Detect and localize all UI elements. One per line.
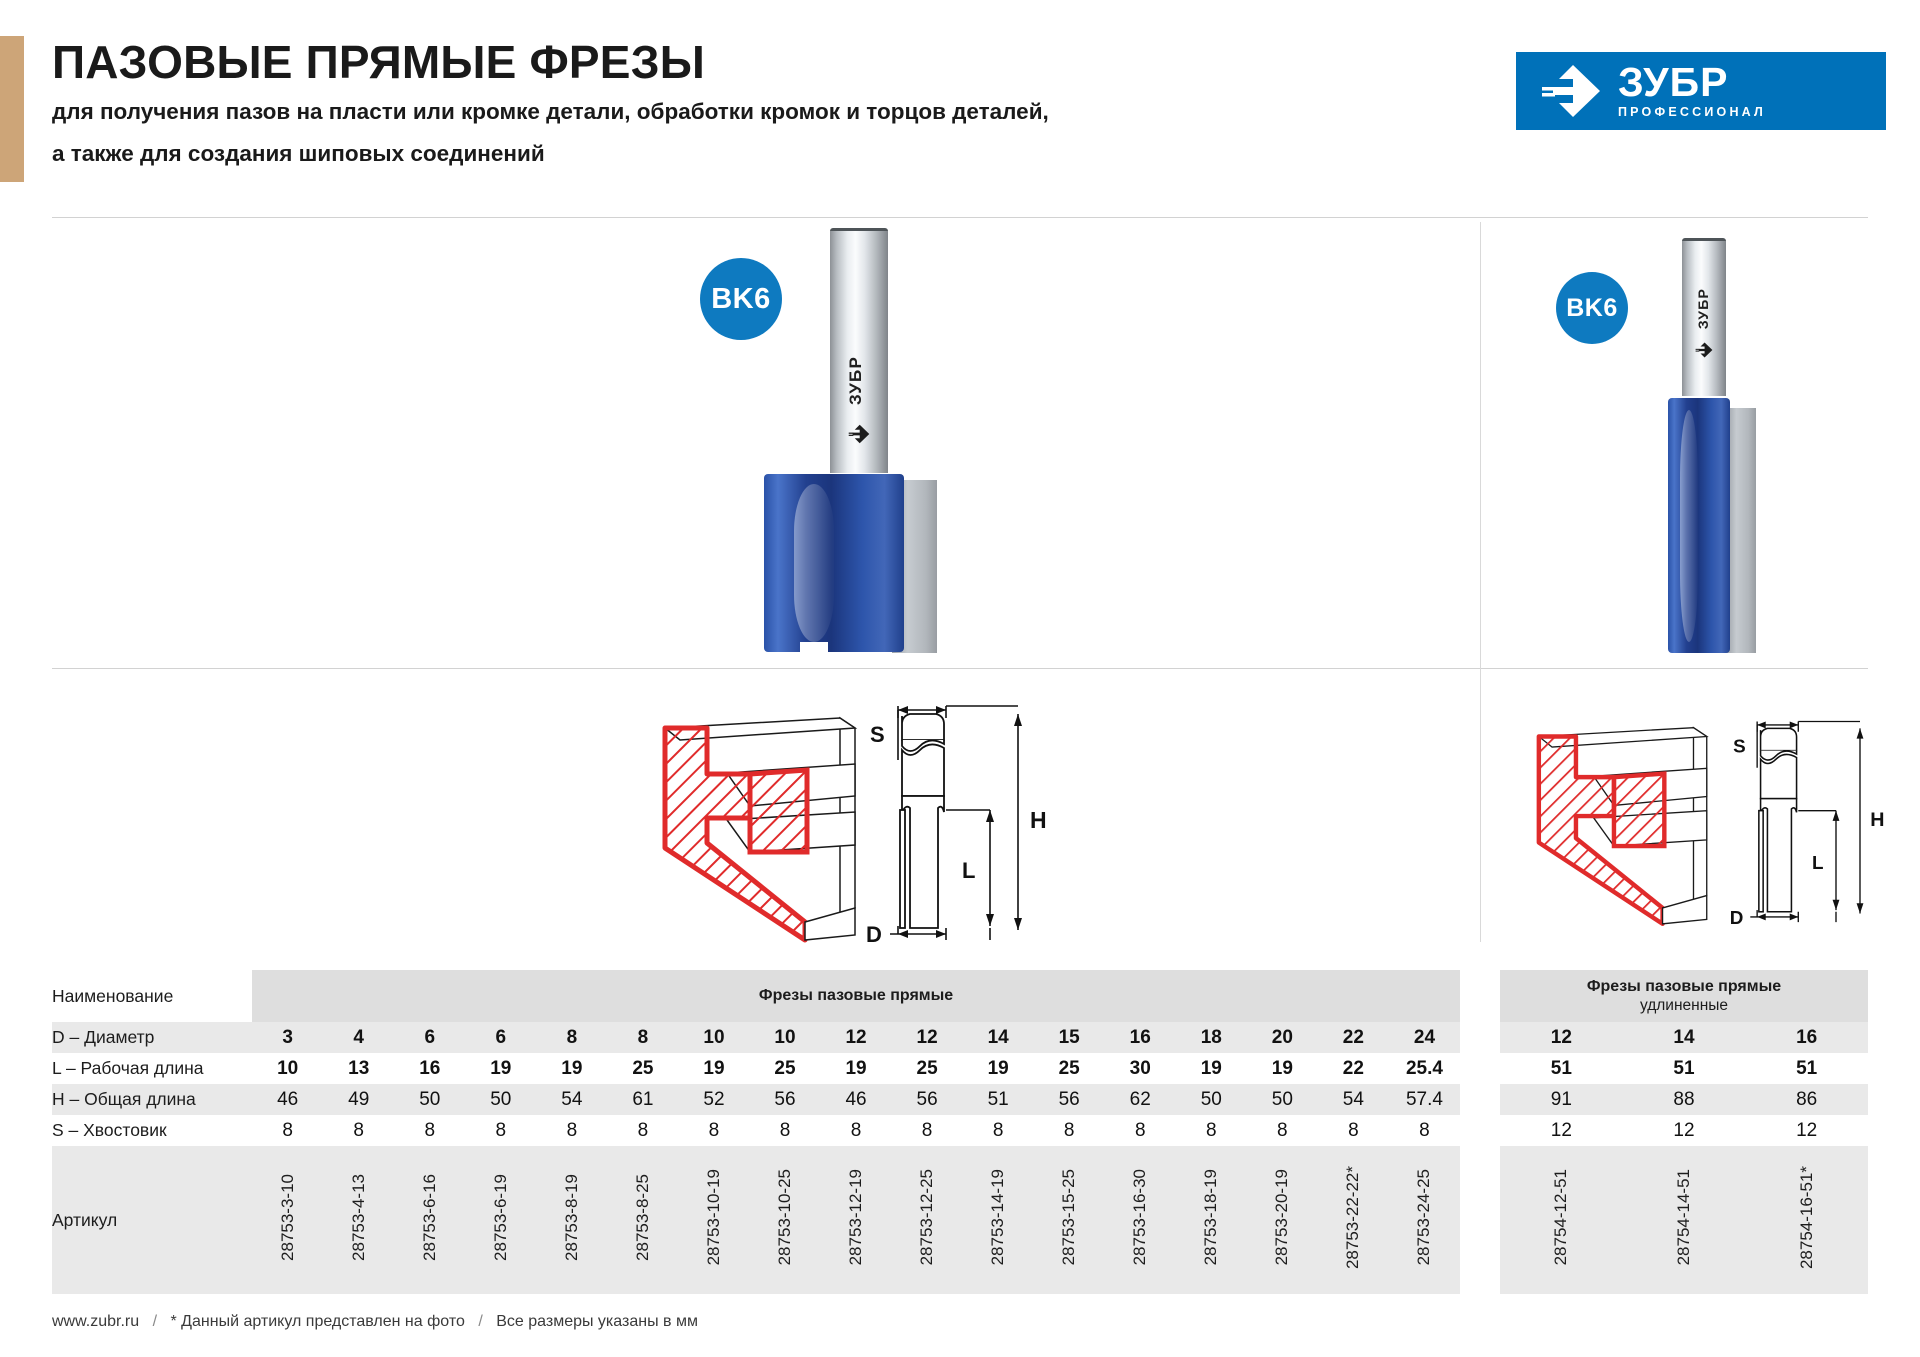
article-cell: 28753-10-25 bbox=[749, 1146, 820, 1294]
table-cell: 3 bbox=[252, 1022, 323, 1053]
main-data-body: D – Диаметр3466881010121214151618202224L… bbox=[52, 1022, 1460, 1294]
table-cell: 56 bbox=[892, 1084, 963, 1115]
table-cell: 30 bbox=[1105, 1053, 1176, 1084]
ext-table-row: 918886 bbox=[1500, 1084, 1868, 1115]
divider-middle bbox=[52, 668, 1868, 669]
table-cell: 4 bbox=[323, 1022, 394, 1053]
main-spec-table: Наименование Фрезы пазовые прямые bbox=[52, 970, 1460, 1022]
page-subtitle-line2: а также для создания шиповых соединений bbox=[52, 138, 1472, 170]
ext-table-cell: 51 bbox=[1745, 1053, 1868, 1084]
ext-table-cell: 12 bbox=[1745, 1115, 1868, 1146]
page-subtitle-line1: для получения пазов на пласти или кромке… bbox=[52, 96, 1472, 128]
footer: www.zubr.ru / * Данный артикул представл… bbox=[52, 1313, 698, 1331]
ext-table-cell: 12 bbox=[1500, 1022, 1623, 1053]
body-gloss-left bbox=[794, 484, 834, 642]
article-text: 28753-3-10 bbox=[278, 1174, 298, 1261]
table-cell: 8 bbox=[1318, 1115, 1389, 1146]
table-cell: 46 bbox=[252, 1084, 323, 1115]
ext-article-cell: 28754-14-51 bbox=[1623, 1146, 1746, 1294]
table-cell: 10 bbox=[749, 1022, 820, 1053]
row-label: S – Хвостовик bbox=[52, 1115, 252, 1146]
datasheet-page: ПАЗОВЫЕ ПРЯМЫЕ ФРЕЗЫ для получения пазов… bbox=[0, 0, 1920, 1357]
dim-label-l-right: L bbox=[1812, 852, 1824, 873]
table-cell: 8 bbox=[1389, 1115, 1460, 1146]
table-cell: 8 bbox=[892, 1115, 963, 1146]
ext-group-header-sub: удлиненные bbox=[1500, 997, 1868, 1015]
ext-article-text: 28754-16-51* bbox=[1797, 1166, 1817, 1269]
product-photo-right: ЗУБР bbox=[1640, 238, 1810, 653]
table-cell: 19 bbox=[1247, 1053, 1318, 1084]
table-cell: 49 bbox=[323, 1084, 394, 1115]
table-cell: 13 bbox=[323, 1053, 394, 1084]
dim-label-s: S bbox=[870, 722, 885, 747]
shank-logo-mark-right bbox=[1695, 341, 1713, 359]
table-cell: 25.4 bbox=[1389, 1053, 1460, 1084]
article-text: 28753-10-19 bbox=[704, 1169, 724, 1265]
ext-table-cell: 88 bbox=[1623, 1084, 1746, 1115]
article-text: 28753-8-25 bbox=[633, 1174, 653, 1261]
ext-table-row: 515151 bbox=[1500, 1053, 1868, 1084]
table-cell: 12 bbox=[821, 1022, 892, 1053]
article-cell: 28753-6-19 bbox=[465, 1146, 536, 1294]
table-cell: 22 bbox=[1318, 1022, 1389, 1053]
table-cell: 46 bbox=[821, 1084, 892, 1115]
ext-table-cell: 91 bbox=[1500, 1084, 1623, 1115]
article-cell: 28753-3-10 bbox=[252, 1146, 323, 1294]
dim-label-l: L bbox=[962, 858, 975, 883]
table-cell: 8 bbox=[1034, 1115, 1105, 1146]
table-cell: 8 bbox=[536, 1115, 607, 1146]
ext-table-cell: 51 bbox=[1500, 1053, 1623, 1084]
table-cell: 19 bbox=[963, 1053, 1034, 1084]
article-text: 28753-18-19 bbox=[1201, 1169, 1221, 1265]
table-cell: 19 bbox=[678, 1053, 749, 1084]
table-row: S – Хвостовик88888888888888888 bbox=[52, 1115, 1460, 1146]
article-cell: 28753-12-19 bbox=[821, 1146, 892, 1294]
article-cell: 28753-12-25 bbox=[892, 1146, 963, 1294]
ext-article-cell: 28754-12-51 bbox=[1500, 1146, 1623, 1294]
ext-spec-table: Фрезы пазовые прямые удлиненные bbox=[1500, 970, 1868, 1022]
article-cell: 28753-15-25 bbox=[1034, 1146, 1105, 1294]
article-cell: 28753-22-22* bbox=[1318, 1146, 1389, 1294]
dim-label-d-right: D bbox=[1730, 907, 1744, 928]
table-cell: 16 bbox=[394, 1053, 465, 1084]
ext-table-cell: 51 bbox=[1623, 1053, 1746, 1084]
ext-article-text: 28754-12-51 bbox=[1551, 1169, 1571, 1265]
article-text: 28753-14-19 bbox=[988, 1169, 1008, 1265]
article-text: 28753-10-25 bbox=[775, 1169, 795, 1265]
table-cell: 8 bbox=[821, 1115, 892, 1146]
article-cell: 28753-16-30 bbox=[1105, 1146, 1176, 1294]
table-cell: 19 bbox=[536, 1053, 607, 1084]
table-cell: 8 bbox=[607, 1022, 678, 1053]
main-table-body: Наименование Фрезы пазовые прямые bbox=[52, 970, 1460, 1022]
main-table-header-row: Наименование Фрезы пазовые прямые bbox=[52, 970, 1460, 1022]
table-cell: 50 bbox=[465, 1084, 536, 1115]
table-cell: 8 bbox=[394, 1115, 465, 1146]
table-cell: 54 bbox=[1318, 1084, 1389, 1115]
article-text: 28753-24-25 bbox=[1414, 1169, 1434, 1265]
article-cell: 28753-8-25 bbox=[607, 1146, 678, 1294]
table-cell: 50 bbox=[1176, 1084, 1247, 1115]
ext-article-text: 28754-14-51 bbox=[1674, 1169, 1694, 1265]
shank-brand-right: ЗУБР bbox=[1695, 288, 1711, 329]
table-cell: 6 bbox=[465, 1022, 536, 1053]
article-cell: 28753-24-25 bbox=[1389, 1146, 1460, 1294]
footer-note-units: Все размеры указаны в мм bbox=[496, 1313, 698, 1330]
logo-tagline-text: ПРОФЕССИОНАЛ bbox=[1618, 105, 1766, 119]
article-row-label: Артикул bbox=[52, 1146, 252, 1294]
article-cell: 28753-20-19 bbox=[1247, 1146, 1318, 1294]
groove-diagram-left bbox=[655, 700, 870, 945]
ext-table-cell: 14 bbox=[1623, 1022, 1746, 1053]
table-cell: 8 bbox=[465, 1115, 536, 1146]
accent-bar bbox=[0, 36, 24, 182]
article-cell: 28753-4-13 bbox=[323, 1146, 394, 1294]
table-row: H – Общая длина4649505054615256465651566… bbox=[52, 1084, 1460, 1115]
article-text: 28753-16-30 bbox=[1130, 1169, 1150, 1265]
groove-diagram-right bbox=[1530, 700, 1720, 940]
product-photo-left: ЗУБР bbox=[750, 228, 980, 653]
article-cell: 28753-14-19 bbox=[963, 1146, 1034, 1294]
dimension-drawing-left: S H L D bbox=[850, 688, 1060, 948]
page-title: ПАЗОВЫЕ ПРЯМЫЕ ФРЕЗЫ bbox=[52, 38, 1472, 86]
article-text: 28753-4-13 bbox=[349, 1174, 369, 1261]
ext-group-header-main: Фрезы пазовые прямые bbox=[1587, 978, 1781, 995]
footer-note-photo: * Данный артикул представлен на фото bbox=[171, 1313, 465, 1330]
badge-bk6-right-label: BK6 bbox=[1566, 294, 1618, 323]
shank-brand-left: ЗУБР bbox=[846, 356, 866, 405]
main-spec-data-table: D – Диаметр3466881010121214151618202224L… bbox=[52, 1022, 1460, 1294]
shank-logo-mark-left bbox=[848, 423, 870, 445]
body-gloss-right bbox=[1680, 410, 1698, 642]
table-cell: 54 bbox=[536, 1084, 607, 1115]
table-cell: 14 bbox=[963, 1022, 1034, 1053]
divider-vertical bbox=[1480, 222, 1481, 942]
divider-top bbox=[52, 217, 1868, 218]
body-notch-left bbox=[800, 642, 828, 653]
article-cell: 28753-18-19 bbox=[1176, 1146, 1247, 1294]
dim-label-h-right: H bbox=[1870, 809, 1884, 831]
footer-website[interactable]: www.zubr.ru bbox=[52, 1313, 139, 1330]
table-cell: 10 bbox=[678, 1022, 749, 1053]
table-cell: 8 bbox=[1105, 1115, 1176, 1146]
table-cell: 57.4 bbox=[1389, 1084, 1460, 1115]
ext-table-cell: 86 bbox=[1745, 1084, 1868, 1115]
table-cell: 8 bbox=[1247, 1115, 1318, 1146]
row-label: D – Диаметр bbox=[52, 1022, 252, 1053]
table-cell: 50 bbox=[1247, 1084, 1318, 1115]
ext-table-header-row: Фрезы пазовые прямые удлиненные bbox=[1500, 970, 1868, 1022]
table-cell: 62 bbox=[1105, 1084, 1176, 1115]
row-label: H – Общая длина bbox=[52, 1084, 252, 1115]
brand-logo: ЗУБР ПРОФЕССИОНАЛ bbox=[1516, 52, 1886, 130]
ext-data-body: 12141651515191888612121228754-12-5128754… bbox=[1500, 1022, 1868, 1294]
table-cell: 8 bbox=[963, 1115, 1034, 1146]
table-cell: 50 bbox=[394, 1084, 465, 1115]
article-text: 28753-6-19 bbox=[491, 1174, 511, 1261]
ext-table-cell: 12 bbox=[1623, 1115, 1746, 1146]
main-group-header: Фрезы пазовые прямые bbox=[252, 970, 1460, 1022]
article-cell: 28753-10-19 bbox=[678, 1146, 749, 1294]
table-cell: 19 bbox=[821, 1053, 892, 1084]
article-row: Артикул28753-3-1028753-4-1328753-6-16287… bbox=[52, 1146, 1460, 1294]
table-cell: 56 bbox=[749, 1084, 820, 1115]
logo-brand-text: ЗУБР bbox=[1618, 63, 1728, 102]
table-cell: 8 bbox=[749, 1115, 820, 1146]
ext-spec-data-table: 12141651515191888612121228754-12-5128754… bbox=[1500, 1022, 1868, 1294]
table-cell: 61 bbox=[607, 1084, 678, 1115]
table-cell: 12 bbox=[892, 1022, 963, 1053]
table-cell: 19 bbox=[465, 1053, 536, 1084]
table-cell: 6 bbox=[394, 1022, 465, 1053]
logo-wordmark: ЗУБР ПРОФЕССИОНАЛ bbox=[1618, 63, 1766, 119]
table-cell: 8 bbox=[536, 1022, 607, 1053]
ext-table-row: 121212 bbox=[1500, 1115, 1868, 1146]
ext-table-cell: 16 bbox=[1745, 1022, 1868, 1053]
ext-article-row: 28754-12-5128754-14-5128754-16-51* bbox=[1500, 1146, 1868, 1294]
dim-label-h: H bbox=[1030, 807, 1047, 833]
ext-table-row: 121416 bbox=[1500, 1022, 1868, 1053]
table-cell: 20 bbox=[1247, 1022, 1318, 1053]
article-text: 28753-12-25 bbox=[917, 1169, 937, 1265]
dim-label-d: D bbox=[866, 922, 882, 947]
ext-table-cell: 12 bbox=[1500, 1115, 1623, 1146]
table-cell: 25 bbox=[749, 1053, 820, 1084]
table-cell: 51 bbox=[963, 1084, 1034, 1115]
table-cell: 22 bbox=[1318, 1053, 1389, 1084]
table-cell: 16 bbox=[1105, 1022, 1176, 1053]
article-text: 28753-8-19 bbox=[562, 1174, 582, 1261]
carbide-edge-right bbox=[1726, 408, 1756, 653]
article-text: 28753-20-19 bbox=[1272, 1169, 1292, 1265]
table-cell: 8 bbox=[323, 1115, 394, 1146]
table-cell: 15 bbox=[1034, 1022, 1105, 1053]
table-cell: 52 bbox=[678, 1084, 749, 1115]
table-cell: 8 bbox=[252, 1115, 323, 1146]
table-cell: 10 bbox=[252, 1053, 323, 1084]
ext-group-header: Фрезы пазовые прямые удлиненные bbox=[1500, 970, 1868, 1022]
article-text: 28753-22-22* bbox=[1343, 1166, 1363, 1269]
table-cell: 19 bbox=[1176, 1053, 1247, 1084]
table-cell: 25 bbox=[892, 1053, 963, 1084]
table-cell: 24 bbox=[1389, 1022, 1460, 1053]
table-cell: 25 bbox=[607, 1053, 678, 1084]
table-cell: 8 bbox=[607, 1115, 678, 1146]
table-cell: 8 bbox=[678, 1115, 749, 1146]
dim-label-s-right: S bbox=[1733, 735, 1746, 756]
table-row: L – Рабочая длина10131619192519251925192… bbox=[52, 1053, 1460, 1084]
ext-article-cell: 28754-16-51* bbox=[1745, 1146, 1868, 1294]
header-text-block: ПАЗОВЫЕ ПРЯМЫЕ ФРЕЗЫ для получения пазов… bbox=[52, 38, 1472, 170]
cutter-body-right bbox=[1668, 398, 1730, 653]
row-label-header: Наименование bbox=[52, 970, 252, 1022]
footer-sep-2: / bbox=[469, 1313, 491, 1330]
article-cell: 28753-6-16 bbox=[394, 1146, 465, 1294]
zubr-diamond-icon bbox=[1540, 63, 1602, 119]
article-cell: 28753-8-19 bbox=[536, 1146, 607, 1294]
badge-bk6-right: BK6 bbox=[1556, 272, 1628, 344]
row-label: L – Рабочая длина bbox=[52, 1053, 252, 1084]
dimension-drawing-right: S H L D bbox=[1716, 690, 1896, 945]
table-cell: 56 bbox=[1034, 1084, 1105, 1115]
table-cell: 25 bbox=[1034, 1053, 1105, 1084]
footer-sep-1: / bbox=[144, 1313, 166, 1330]
article-text: 28753-6-16 bbox=[420, 1174, 440, 1261]
article-text: 28753-15-25 bbox=[1059, 1169, 1079, 1265]
table-cell: 18 bbox=[1176, 1022, 1247, 1053]
table-cell: 8 bbox=[1176, 1115, 1247, 1146]
table-row: D – Диаметр3466881010121214151618202224 bbox=[52, 1022, 1460, 1053]
cutter-body-left bbox=[764, 474, 904, 652]
article-text: 28753-12-19 bbox=[846, 1169, 866, 1265]
